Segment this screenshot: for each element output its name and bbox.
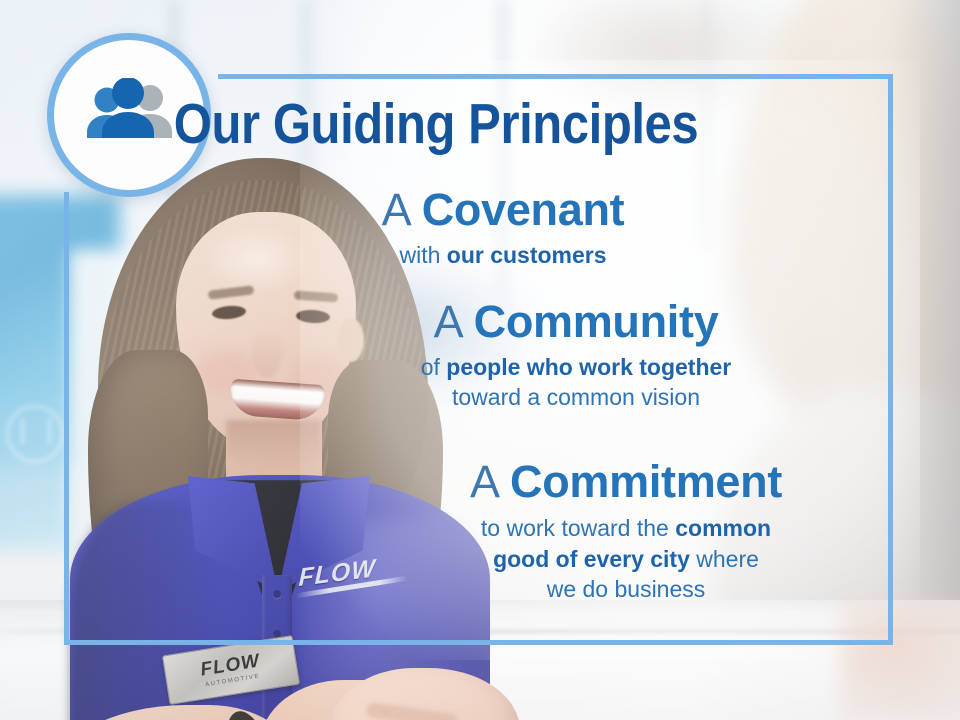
subtext-emphasis: good of every city (493, 546, 690, 572)
principle-keyword: Community (474, 296, 719, 347)
subtext-line: we do business (372, 574, 880, 605)
principle-community: A Community of people who work togethert… (316, 298, 836, 412)
principle-subtext: with our customers (268, 241, 738, 271)
principle-article: A (470, 456, 498, 507)
subtext-emphasis: common (675, 515, 771, 541)
principle-heading: A Commitment (372, 458, 880, 506)
principle-heading: A Covenant (268, 186, 738, 234)
guiding-principles-graphic: FLOW FLOW AUTOMOTIVE (0, 0, 960, 720)
text-content: Our Guiding Principles A Covenant with o… (0, 0, 960, 720)
principle-subtext: of people who work togethertoward a comm… (316, 353, 836, 413)
subtext-run: where (690, 546, 759, 572)
subtext-emphasis: people who work together (446, 354, 731, 380)
subtext-line: of people who work together (316, 353, 836, 383)
principle-subtext: to work toward the commongood of every c… (372, 513, 880, 605)
subtext-run: we do business (547, 576, 706, 602)
principle-heading: A Community (316, 298, 836, 346)
principle-covenant: A Covenant with our customers (268, 186, 738, 271)
subtext-run: of (421, 354, 447, 380)
subtext-run: to work toward the (481, 515, 675, 541)
subtext-line: to work toward the common (372, 513, 880, 544)
principle-article: A (434, 296, 462, 347)
subtext-run: with (399, 242, 446, 268)
subtext-emphasis: our customers (447, 242, 607, 268)
subtext-run: toward a common vision (452, 384, 700, 410)
page-title: Our Guiding Principles (61, 96, 811, 153)
subtext-line: toward a common vision (316, 383, 836, 413)
principle-keyword: Commitment (510, 456, 782, 507)
principle-keyword: Covenant (422, 184, 625, 235)
principle-commitment: A Commitment to work toward the commongo… (372, 458, 880, 605)
subtext-line: with our customers (268, 241, 738, 271)
principle-article: A (382, 184, 410, 235)
subtext-line: good of every city where (372, 544, 880, 575)
